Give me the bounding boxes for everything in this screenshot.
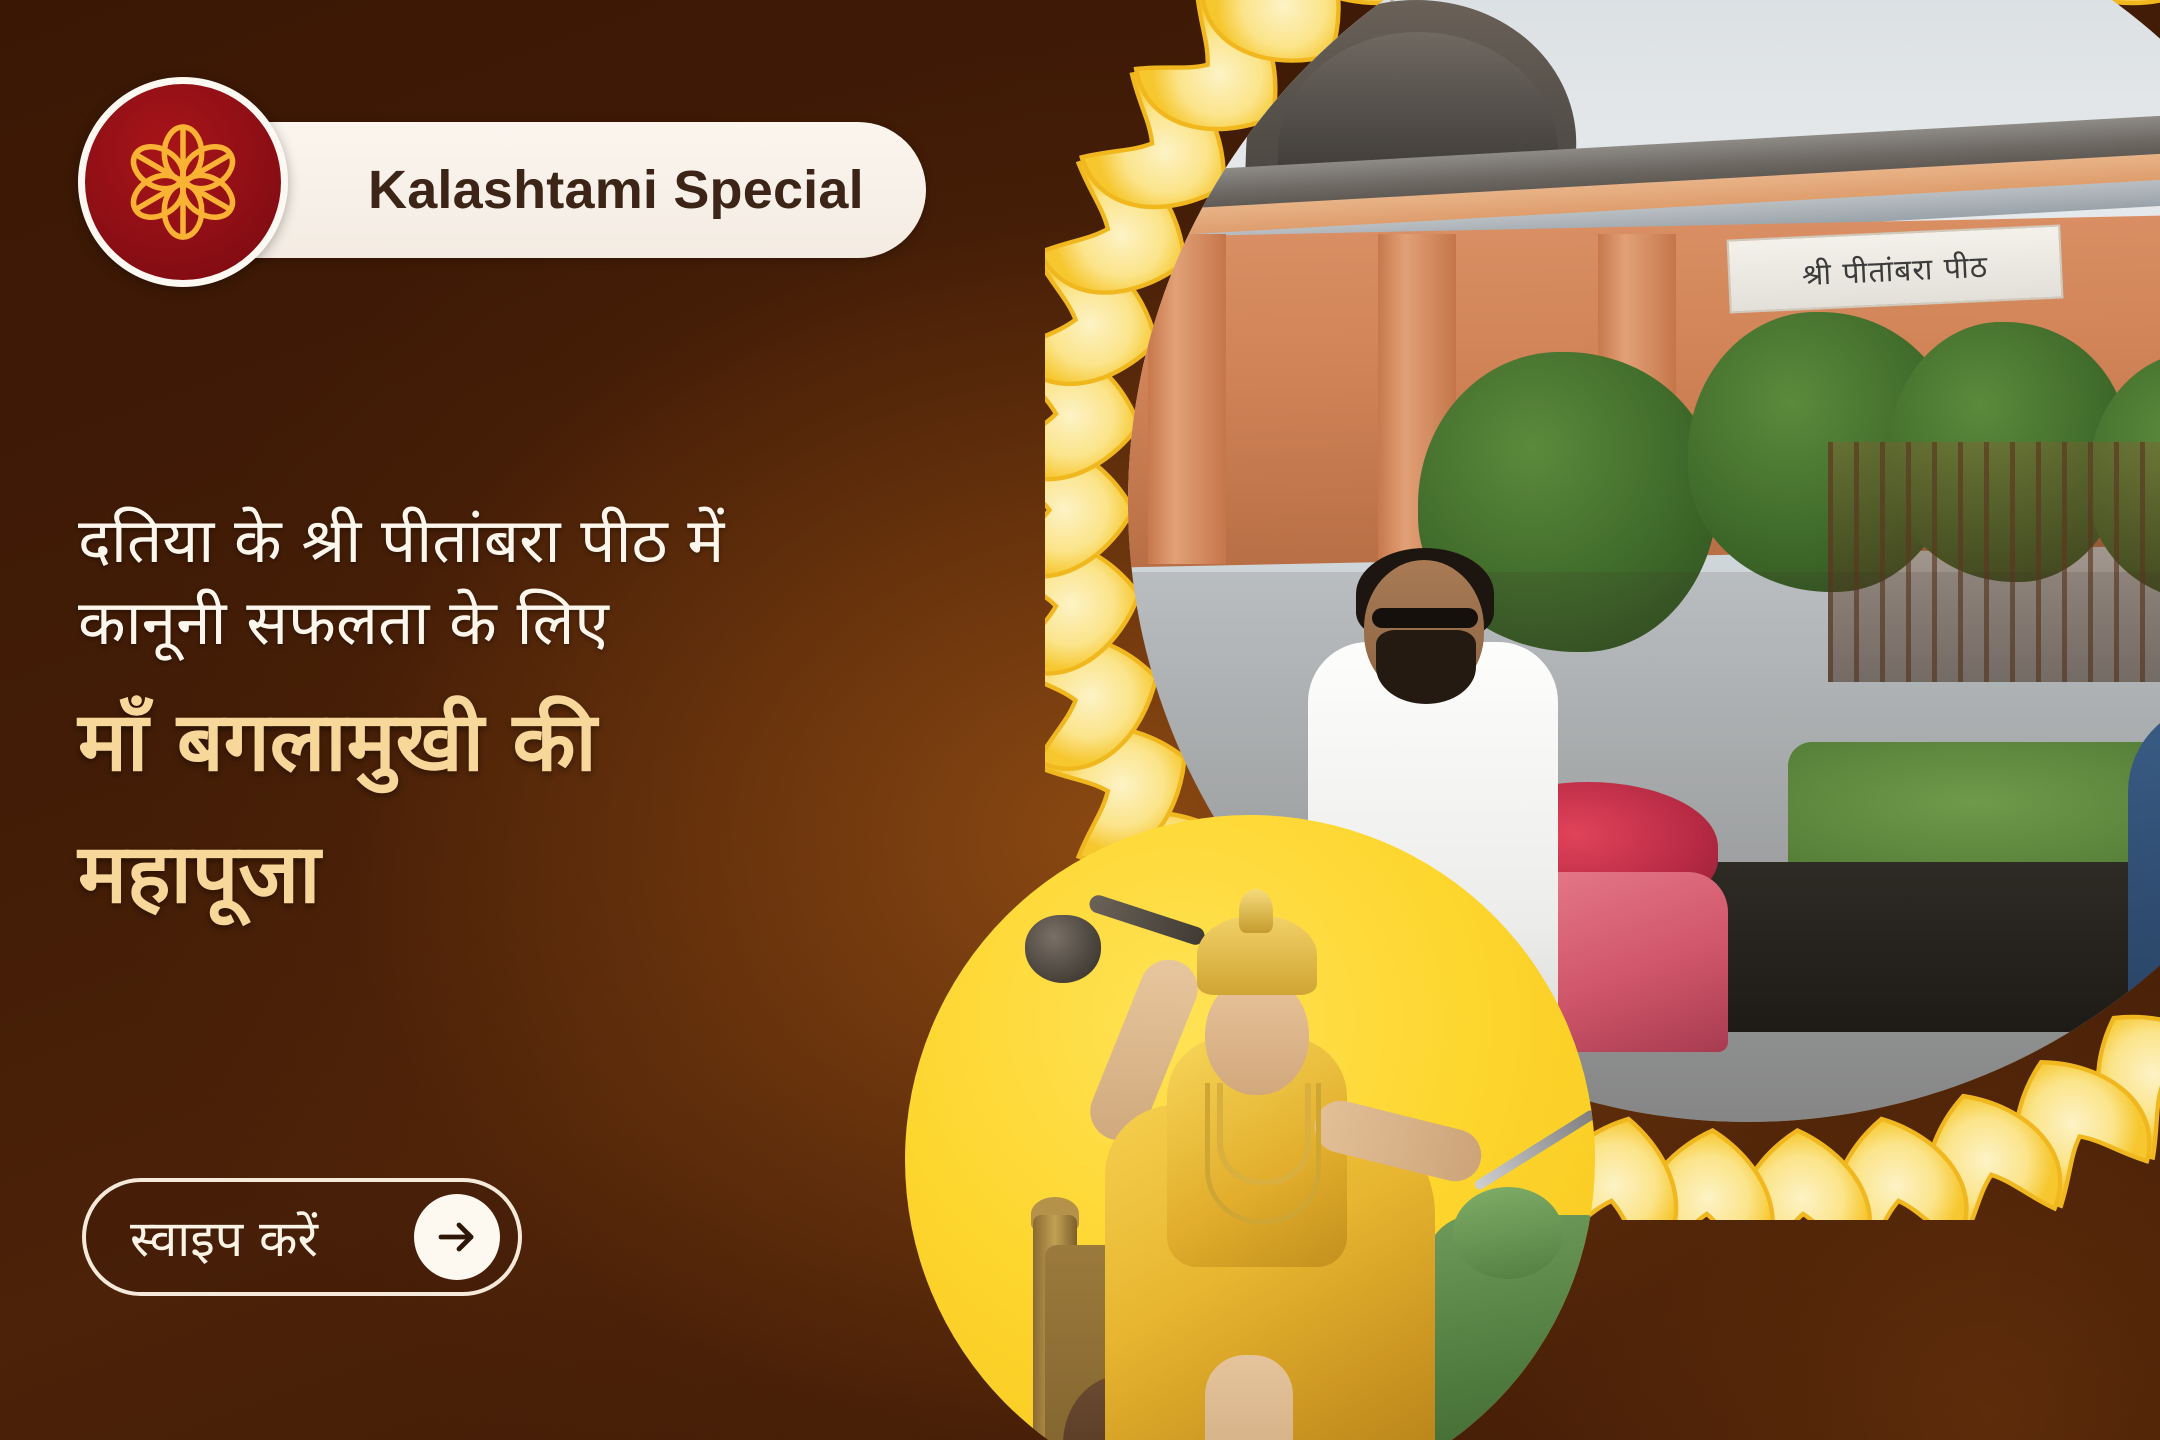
goddess-baglamukhi-photo [905,815,1595,1440]
poster-canvas: श्री पीतांबरा पीठ [0,0,2160,1440]
brand-badge: Kalashtami Special [78,108,288,272]
goddess-crown-finial [1239,889,1273,933]
lotus-mandala-glyph [117,116,249,248]
garden-planter [1688,862,2160,1032]
sunglasses-icon [1372,608,1478,628]
devotee-beard [1376,630,1476,704]
sword-icon [1473,1109,1595,1192]
headline-line-1: दतिया के श्री पीतांबरा पीठ में [78,500,978,582]
arrow-right-glyph [433,1213,481,1261]
goddess-necklace [1217,1083,1311,1185]
swipe-button-label: स्वाइप करें [130,1203,346,1271]
headline-line-2: कानूनी सफलता के लिए [78,582,978,664]
temple-signboard-text: श्री पीतांबरा पीठ [1801,244,1989,293]
headline-line-3: माँ बगलामुखी की [78,690,978,797]
badge-title: Kalashtami Special [368,159,864,221]
lotus-mandala-icon [78,77,288,287]
goddess-leg [1205,1355,1293,1440]
devotee-blue-jacket [2128,702,2160,1122]
badge-pill: Kalashtami Special [188,122,926,258]
swipe-button[interactable]: स्वाइप करें [82,1178,522,1296]
arrow-right-icon[interactable] [414,1194,500,1280]
temple-pillar [1148,234,1226,564]
mace-handle [1087,893,1207,947]
mace-icon [1025,915,1101,983]
headline-line-4: महापूजा [78,822,978,929]
demon-head [1453,1187,1563,1279]
temple-signboard: श्री पीतांबरा पीठ [1726,224,2063,313]
headline-block: दतिया के श्री पीतांबरा पीठ में कानूनी सफ… [78,500,978,929]
